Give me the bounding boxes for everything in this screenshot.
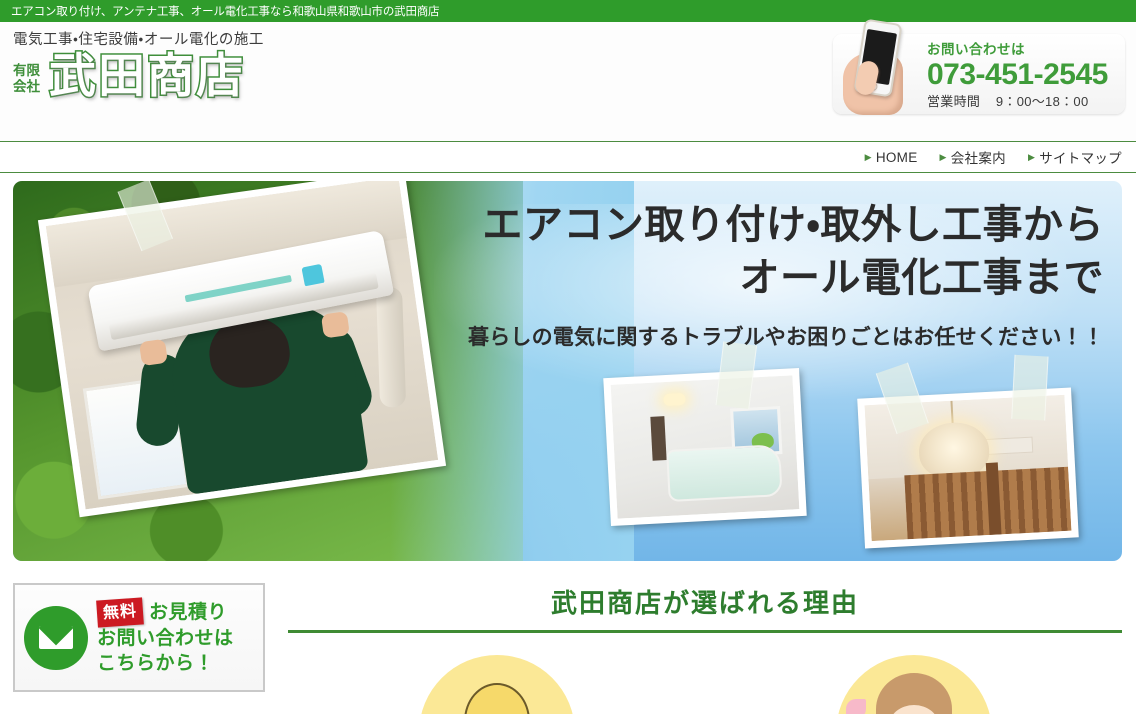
nav-item-sitemap[interactable]: ▶ サイトマップ — [1028, 147, 1122, 167]
reason-circle-1[interactable] — [419, 655, 575, 714]
aircon-scene — [46, 181, 438, 509]
photo-chandelier — [857, 388, 1079, 549]
worker-right-hand — [321, 311, 350, 338]
contact-box-row1: 無料 お見積り — [97, 599, 234, 626]
photo-aircon-inner — [46, 181, 438, 509]
reason-circle-2[interactable] — [836, 655, 992, 714]
contact-quote-button[interactable]: 無料 お見積り お問い合わせは こちらから！ — [13, 583, 265, 692]
contact-box-line3: こちらから！ — [97, 651, 234, 676]
contact-box-text: 無料 お見積り お問い合わせは こちらから！ — [97, 599, 234, 676]
logo-company-kind-line1: 有限 — [13, 63, 40, 79]
photo-bathroom — [603, 368, 806, 526]
bathtub — [666, 444, 783, 502]
chevron-right-icon: ▶ — [865, 153, 872, 162]
contact-phone-number[interactable]: 073-451-2545 — [927, 58, 1108, 91]
top-banner-text: エアコン取り付け、アンテナ工事、オール電化工事なら和歌山県和歌山市の武田商店 — [11, 3, 439, 19]
logo-main: 有限 会社 武田商店 — [13, 51, 264, 100]
contact-panel-text: お問い合わせは 073-451-2545 営業時間 9：00〜18：00 — [921, 38, 1108, 110]
logo-tagline: 電気工事・住宅設備・オール電化の施工 — [13, 28, 264, 49]
ribbon-icon — [846, 699, 866, 714]
chevron-right-icon: ▶ — [940, 153, 947, 162]
pipe-shape — [376, 287, 406, 408]
chevron-right-icon: ▶ — [1028, 153, 1035, 162]
logo-company-kind: 有限 会社 — [13, 63, 40, 100]
bathroom-panel — [650, 416, 666, 461]
nav-item-company[interactable]: ▶ 会社案内 — [940, 147, 1006, 167]
contact-box-line1: お見積り — [149, 600, 227, 625]
top-banner: エアコン取り付け、アンテナ工事、オール電化工事なら和歌山県和歌山市の武田商店 — [0, 0, 1136, 22]
worker-left-hand — [139, 339, 168, 366]
contact-hours: 営業時間 9：00〜18：00 — [927, 91, 1108, 110]
nav-item-company-label: 会社案内 — [951, 147, 1006, 167]
hero-banner[interactable]: エアコン取り付け・取外し工事から オール電化工事まで 暮らしの電気に関するトラブ… — [13, 181, 1122, 561]
site-logo[interactable]: 電気工事・住宅設備・オール電化の施工 有限 会社 武田商店 — [13, 28, 264, 100]
contact-hours-value: 9：00〜18：00 — [996, 94, 1089, 109]
contact-box-line2: お問い合わせは — [97, 626, 234, 651]
main-content-column: 武田商店が選ばれる理由 — [288, 583, 1122, 714]
hero-headline-line2: オール電化工事まで — [444, 252, 1104, 305]
person-face-illustration — [464, 683, 530, 714]
nav-item-sitemap-label: サイトマップ — [1039, 147, 1122, 167]
reasons-section-title: 武田商店が選ばれる理由 — [288, 583, 1122, 630]
nav-item-home-label: HOME — [876, 150, 918, 165]
smartphone-in-hand-icon — [837, 19, 921, 115]
contact-hours-label: 営業時間 — [927, 94, 980, 109]
photo-aircon-installation — [38, 181, 446, 517]
logo-company-kind-line2: 会社 — [13, 79, 40, 95]
bathroom-light — [663, 393, 686, 406]
photo-bathroom-inner — [611, 375, 800, 518]
hero-wrapper: エアコン取り付け・取外し工事から オール電化工事まで 暮らしの電気に関するトラブ… — [0, 173, 1136, 561]
reasons-list — [288, 633, 1122, 714]
tape-strip — [1011, 355, 1048, 421]
header-contact-panel[interactable]: お問い合わせは 073-451-2545 営業時間 9：00〜18：00 — [833, 34, 1125, 114]
bathroom-scene — [611, 375, 800, 518]
free-badge: 無料 — [96, 597, 144, 627]
logo-company-name: 武田商店 — [49, 51, 245, 100]
mail-envelope-icon — [24, 606, 88, 670]
lower-section: 無料 お見積り お問い合わせは こちらから！ 武田商店が選ばれる理由 — [0, 561, 1136, 714]
hero-headline-line1: エアコン取り付け・取外し工事から — [444, 199, 1104, 252]
hero-copy: エアコン取り付け・取外し工事から オール電化工事まで 暮らしの電気に関するトラブ… — [444, 199, 1104, 351]
main-navigation: ▶ HOME ▶ 会社案内 ▶ サイトマップ — [0, 141, 1136, 173]
girl-face-illustration — [876, 673, 952, 714]
envelope-glyph — [39, 626, 73, 649]
wall-vent-shape — [985, 437, 1034, 455]
contact-label: お問い合わせは — [927, 38, 1108, 58]
site-header: 電気工事・住宅設備・オール電化の施工 有限 会社 武田商店 お問い合わせは 07… — [0, 22, 1136, 141]
nav-item-home[interactable]: ▶ HOME — [865, 150, 918, 165]
hero-subline: 暮らしの電気に関するトラブルやお困りごとはお任せください！！ — [444, 321, 1104, 351]
